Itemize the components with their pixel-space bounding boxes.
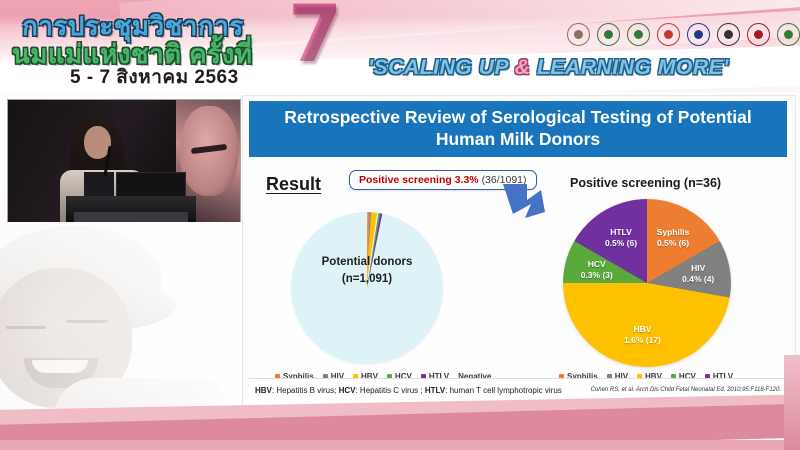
speaker-video-inset[interactable] <box>8 100 240 222</box>
conference-edition-number: 7 <box>288 0 342 74</box>
laptop-icon <box>116 172 186 198</box>
podium-base <box>74 212 188 222</box>
pie-label-value: 0.4% (4) <box>668 274 728 285</box>
abbr-htlv-key: HTLV <box>425 386 445 395</box>
pie-label-value: 1.6% (17) <box>612 335 672 346</box>
footer-band-base <box>0 440 800 450</box>
pie-label-name: Syphilis <box>643 227 703 238</box>
pie-label-hbv: HBV1.6% (17) <box>612 324 672 347</box>
conference-header-banner: การประชุมวิชาการ นมแม่แห่งชาติ ครั้งที่ … <box>0 0 800 92</box>
pie-label-hiv: HIV0.4% (4) <box>668 263 728 286</box>
logo-emblem-8 <box>776 22 800 47</box>
logo-emblem-1 <box>566 22 591 47</box>
sponsor-logos <box>566 22 800 47</box>
pie-label-hcv: HCV0.3% (3) <box>567 259 627 282</box>
logo-emblem-2 <box>596 22 621 47</box>
potential-donors-center-label: Potential donors (n=1,091) <box>291 254 443 287</box>
pie-label-name: HTLV <box>591 227 651 238</box>
logo-emblem-5 <box>686 22 711 47</box>
tagline-part-2: LEARNING MORE' <box>531 56 729 79</box>
right-edge-pink-strip <box>784 355 800 450</box>
abbr-htlv-val: : human T cell lymphotropic virus <box>445 386 562 395</box>
photo-fade-overlay <box>0 222 242 430</box>
down-right-arrow-icon <box>501 180 549 222</box>
slide-title: Retrospective Review of Serological Test… <box>249 101 787 157</box>
result-label: Result <box>266 174 321 195</box>
logo-emblem-4 <box>656 22 681 47</box>
pie-label-name: HBV <box>612 324 672 335</box>
slide-panel: Retrospective Review of Serological Test… <box>242 95 796 410</box>
conference-date-thai: 5 - 7 สิงหาคม 2563 <box>70 62 239 92</box>
background-child-photo <box>0 222 242 430</box>
potential-donors-pie-chart <box>291 212 443 364</box>
pie-label-syphilis: Syphilis0.5% (6) <box>643 227 703 250</box>
potential-donors-label-line1: Potential donors <box>291 254 443 271</box>
abbr-hbv-key: HBV <box>255 386 272 395</box>
abbr-hcv-val: : Hepatitis C virus ; <box>355 386 424 395</box>
pie-label-htlv: HTLV0.5% (6) <box>591 227 651 250</box>
conference-tagline: 'SCALING UP & LEARNING MORE' <box>368 56 729 80</box>
logo-emblem-6 <box>716 22 741 47</box>
presentation-screen: การประชุมวิชาการ นมแม่แห่งชาติ ครั้งที่ … <box>0 0 800 450</box>
tagline-part-1: 'SCALING UP <box>368 56 515 79</box>
pie-label-value: 0.3% (3) <box>567 270 627 281</box>
positive-screening-pie-title: Positive screening (n=36) <box>570 176 721 190</box>
pie-label-name: HCV <box>567 259 627 270</box>
citation-reference: Cohen RS, et al. Arch Dis Child Fetal Ne… <box>591 387 781 393</box>
logo-emblem-3 <box>626 22 651 47</box>
tagline-ampersand: & <box>515 56 531 79</box>
potential-donors-label-line2: (n=1,091) <box>291 271 443 288</box>
pie-label-value: 0.5% (6) <box>643 238 703 249</box>
abbreviation-note: HBV: Hepatitis B virus; HCV: Hepatitis C… <box>255 386 562 395</box>
logo-emblem-7 <box>746 22 771 47</box>
abbr-hcv-key: HCV <box>339 386 356 395</box>
pie-label-name: HIV <box>668 263 728 274</box>
pie-label-value: 0.5% (6) <box>591 238 651 249</box>
abbr-hbv-val: : Hepatitis B virus; <box>272 386 339 395</box>
callout-highlight-text: Positive screening 3.3% <box>359 174 479 186</box>
